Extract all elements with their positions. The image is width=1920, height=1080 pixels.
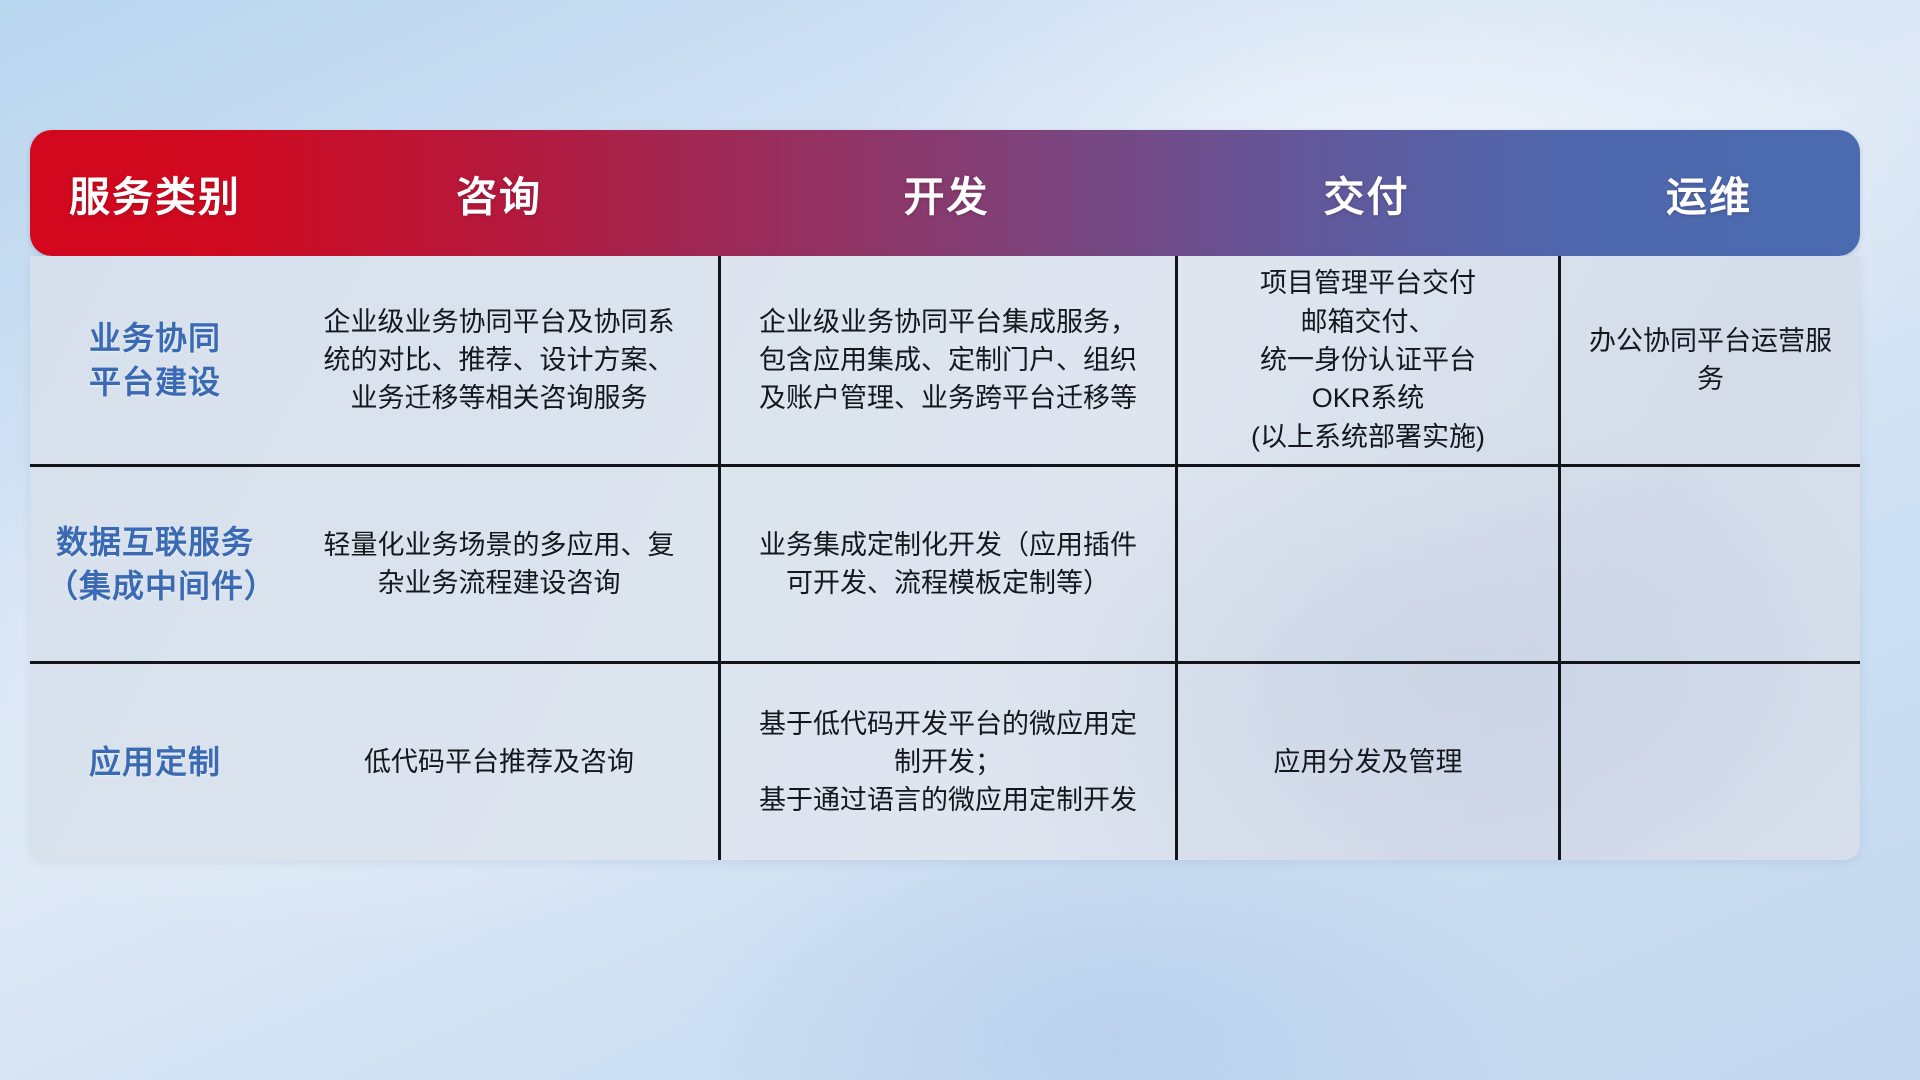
- table-header-cell-development: 开发: [718, 130, 1175, 256]
- cell-development: 企业级业务协同平台集成服务， 包含应用集成、定制门户、组织 及账户管理、业务跨平…: [718, 256, 1175, 464]
- table-header-label: 交付: [1324, 163, 1410, 223]
- row-label-cell: 应用定制: [30, 664, 280, 860]
- cell-consulting: 企业级业务协同平台及协同系 统的对比、推荐、设计方案、 业务迁移等相关咨询服务: [280, 256, 718, 464]
- cell-operations: 办公协同平台运营服务: [1558, 256, 1860, 464]
- cell-delivery: 项目管理平台交付 邮箱交付、 统一身份认证平台 OKR系统 (以上系统部署实施): [1175, 256, 1558, 464]
- cell-operations: [1558, 467, 1860, 661]
- service-category-table: 服务类别 咨询 开发 交付 运维 业务协同 平台建设 企业级业务协同平台及协同系…: [30, 130, 1860, 860]
- cell-consulting: 低代码平台推荐及咨询: [280, 664, 718, 860]
- table-header-label: 咨询: [456, 163, 542, 223]
- cell-consulting: 轻量化业务场景的多应用、复 杂业务流程建设咨询: [280, 467, 718, 661]
- table-body: 业务协同 平台建设 企业级业务协同平台及协同系 统的对比、推荐、设计方案、 业务…: [30, 256, 1860, 860]
- table-header-label: 开发: [904, 163, 990, 223]
- table-header-cell-operations: 运维: [1558, 130, 1860, 256]
- table-row: 数据互联服务 （集成中间件） 轻量化业务场景的多应用、复 杂业务流程建设咨询 业…: [30, 464, 1860, 661]
- page-background: 服务类别 咨询 开发 交付 运维 业务协同 平台建设 企业级业务协同平台及协同系…: [0, 0, 1920, 1080]
- table-header-label: 运维: [1666, 163, 1752, 223]
- table-header-label: 服务类别: [69, 163, 241, 223]
- table-header-cell-delivery: 交付: [1175, 130, 1558, 256]
- table-row: 应用定制 低代码平台推荐及咨询 基于低代码开发平台的微应用定 制开发； 基于通过…: [30, 661, 1860, 860]
- table-header-row: 服务类别 咨询 开发 交付 运维: [30, 130, 1860, 256]
- row-label-cell: 数据互联服务 （集成中间件）: [30, 467, 280, 661]
- row-label-cell: 业务协同 平台建设: [30, 256, 280, 464]
- cell-delivery: 应用分发及管理: [1175, 664, 1558, 860]
- table-row: 业务协同 平台建设 企业级业务协同平台及协同系 统的对比、推荐、设计方案、 业务…: [30, 256, 1860, 464]
- cell-development: 业务集成定制化开发（应用插件 可开发、流程模板定制等）: [718, 467, 1175, 661]
- cell-development: 基于低代码开发平台的微应用定 制开发； 基于通过语言的微应用定制开发: [718, 664, 1175, 860]
- cell-operations: [1558, 664, 1860, 860]
- table-header-cell-service-category: 服务类别: [30, 130, 280, 256]
- cell-delivery: [1175, 467, 1558, 661]
- table-header-cell-consulting: 咨询: [280, 130, 718, 256]
